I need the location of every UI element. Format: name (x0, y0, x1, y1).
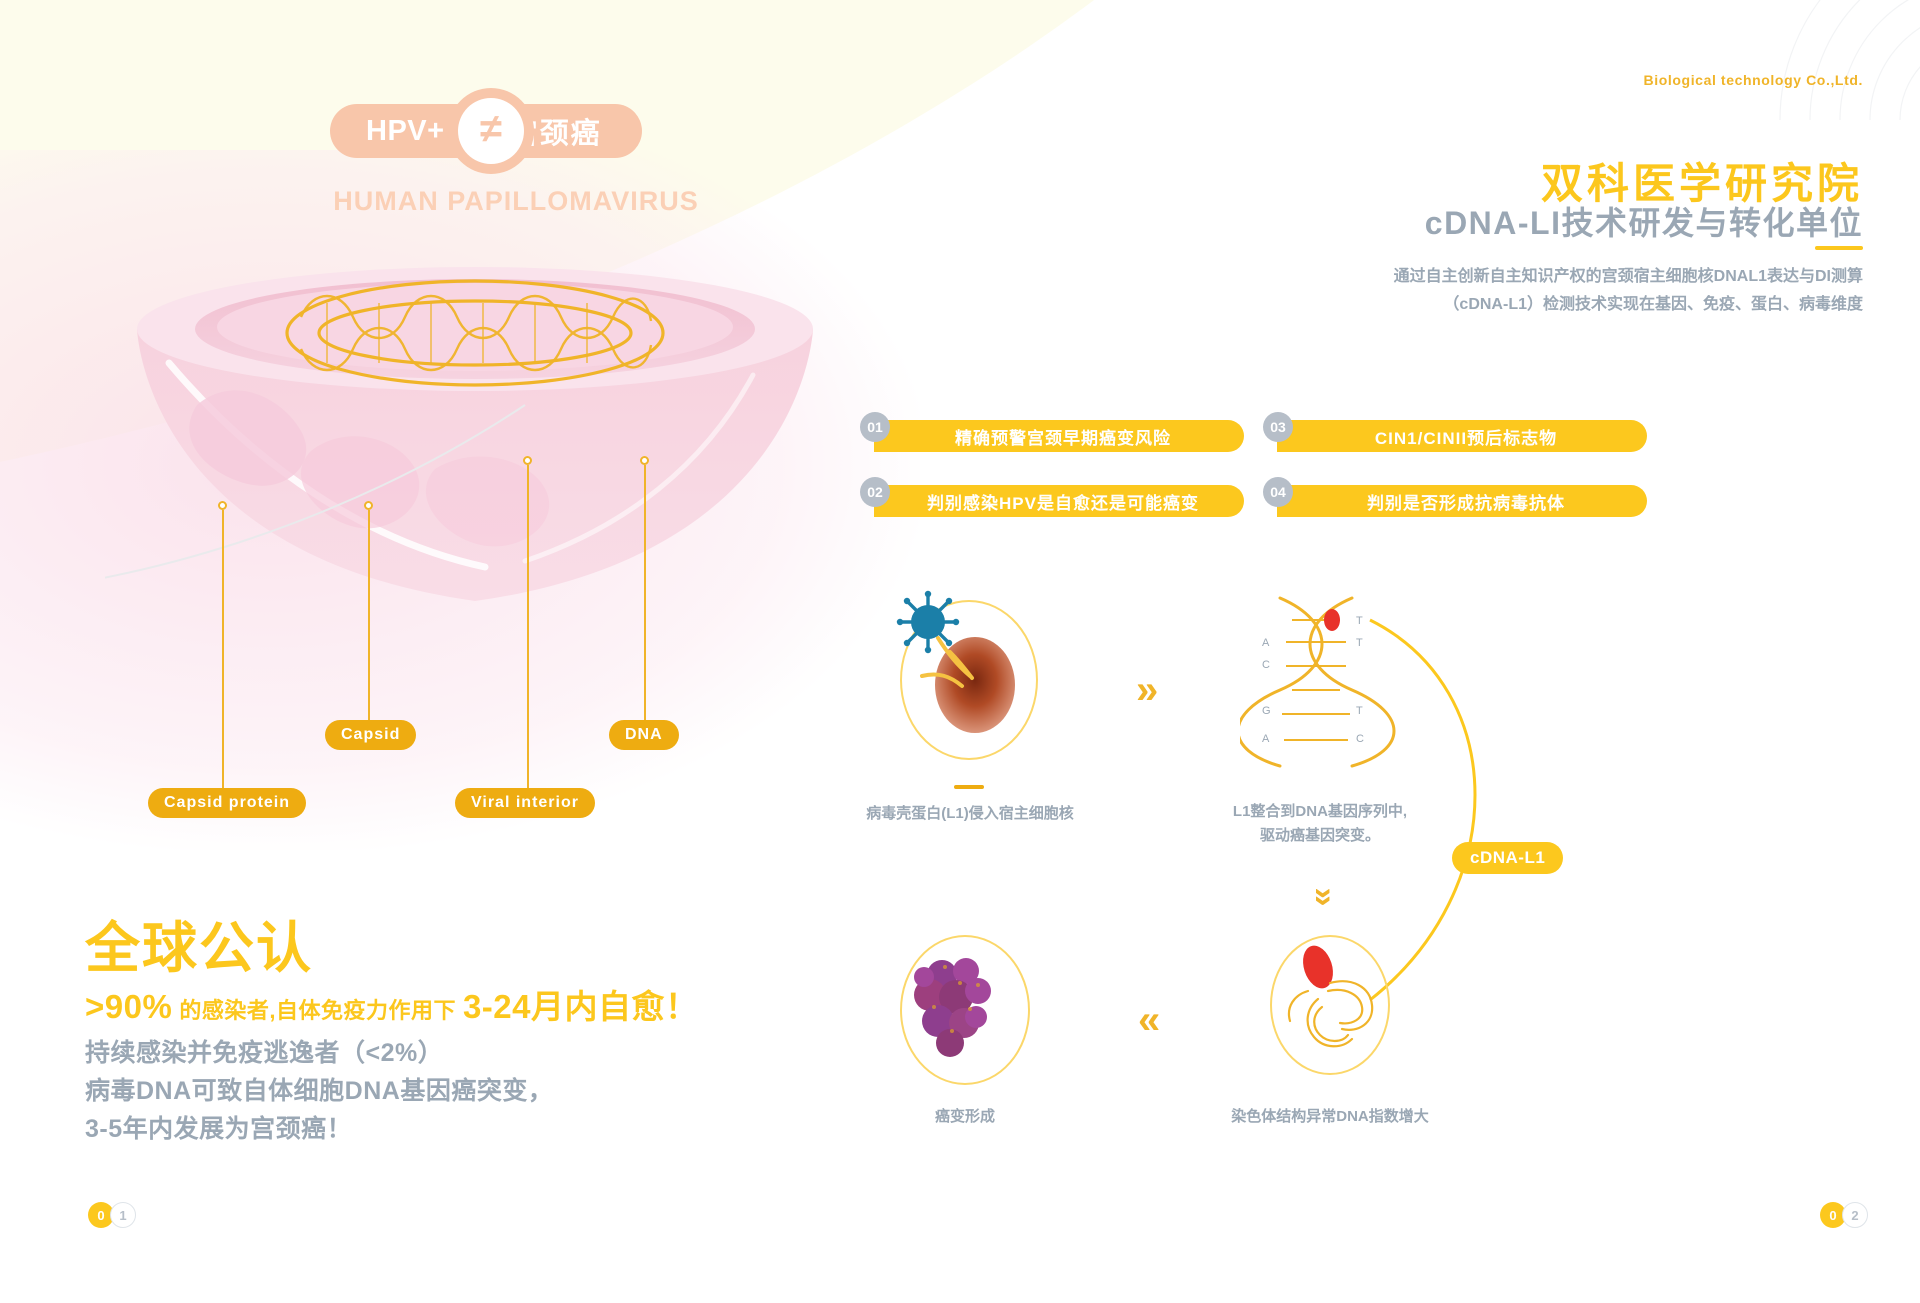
callout-line-dna (644, 465, 646, 728)
feature-number-02: 02 (860, 477, 890, 507)
callout-line-capsid-protein (222, 510, 224, 805)
claim-stat: >90% (85, 988, 172, 1026)
virus-particle-icon (897, 591, 959, 653)
flow-step-1-illustration (880, 580, 1070, 780)
flow-step-4-caption: 癌变形成 (830, 1105, 1100, 1129)
callout-dot-viral-interior (523, 456, 532, 465)
right-page: Biological technology Co.,Ltd. 双科医学研究院 c… (960, 0, 1920, 1303)
claim-body-line-3: 3-5年内发展为宫颈癌！ (85, 1110, 553, 1148)
not-equal-icon: ≠ (448, 88, 534, 174)
chevron-right-icon: » (1136, 670, 1158, 710)
callout-dot-capsid-protein (218, 501, 227, 510)
callout-label-capsid-protein: Capsid protein (148, 788, 306, 818)
feature-number-03: 03 (1263, 412, 1293, 442)
page-number-left: 0 1 (88, 1202, 136, 1228)
callout-label-viral-interior: Viral interior (455, 788, 595, 818)
flow-step-1-divider (954, 785, 984, 789)
svg-text:G: G (1262, 705, 1271, 717)
claim-body-line-1: 持续感染并免疫逃逸者（<2%） (85, 1034, 553, 1072)
claim-body-line-2: 病毒DNA可致自体细胞DNA基因癌突变， (85, 1072, 553, 1110)
page-number-left-minor: 1 (110, 1202, 136, 1228)
callout-line-capsid (368, 510, 370, 735)
feature-number-04: 04 (1263, 477, 1293, 507)
callout-line-viral-interior (527, 465, 529, 805)
hpv-badge-left-text: HPV+ (366, 115, 445, 148)
flow-step-4-illustration (890, 925, 1050, 1095)
callout-dot-capsid (364, 501, 373, 510)
chevron-left-icon: « (1138, 1000, 1160, 1040)
page-number-right-minor: 2 (1842, 1202, 1868, 1228)
virus-dish-illustration (105, 255, 845, 615)
callout-label-capsid: Capsid (325, 720, 416, 750)
feature-number-01: 01 (860, 412, 890, 442)
svg-text:A: A (1262, 637, 1270, 649)
flow-step-1-caption: 病毒壳蛋白(L1)侵入宿主细胞核 (830, 802, 1110, 826)
claim-title: 全球公认 (85, 903, 313, 983)
claim-stat-tail: 的感染者,自体免疫力作用下 (172, 993, 463, 1025)
claim-stat-highlight: 3-24月内自愈！ (463, 980, 699, 1028)
claim-stat-line: >90% 的感染者,自体免疫力作用下 3-24月内自愈！ (85, 980, 699, 1028)
callout-label-dna: DNA (609, 720, 679, 750)
left-page: HPV+ 宫颈癌 ≠ HUMAN PAPILLOMAVIRUS (0, 0, 960, 1303)
not-equal-glyph: ≠ (458, 98, 524, 164)
claim-body: 持续感染并免疫逃逸者（<2%） 病毒DNA可致自体细胞DNA基因癌突变， 3-5… (85, 1034, 553, 1148)
callout-dot-dna (640, 456, 649, 465)
page-number-right: 0 2 (1820, 1202, 1868, 1228)
flow-step-3-illustration (1260, 925, 1410, 1090)
cdna-l1-badge: cDNA-L1 (1452, 842, 1563, 874)
svg-text:C: C (1262, 659, 1270, 671)
flow-step-3-caption: 染色体结构异常DNA指数增大 (1185, 1105, 1475, 1129)
infographic-page: HPV+ 宫颈癌 ≠ HUMAN PAPILLOMAVIRUS (0, 0, 1920, 1303)
chevron-down-icon: » (1307, 888, 1341, 907)
hpv-subtitle: HUMAN PAPILLOMAVIRUS (306, 186, 726, 217)
flow-diagram: 病毒壳蛋白(L1)侵入宿主细胞核 » (960, 0, 1920, 1303)
svg-text:A: A (1262, 733, 1270, 745)
